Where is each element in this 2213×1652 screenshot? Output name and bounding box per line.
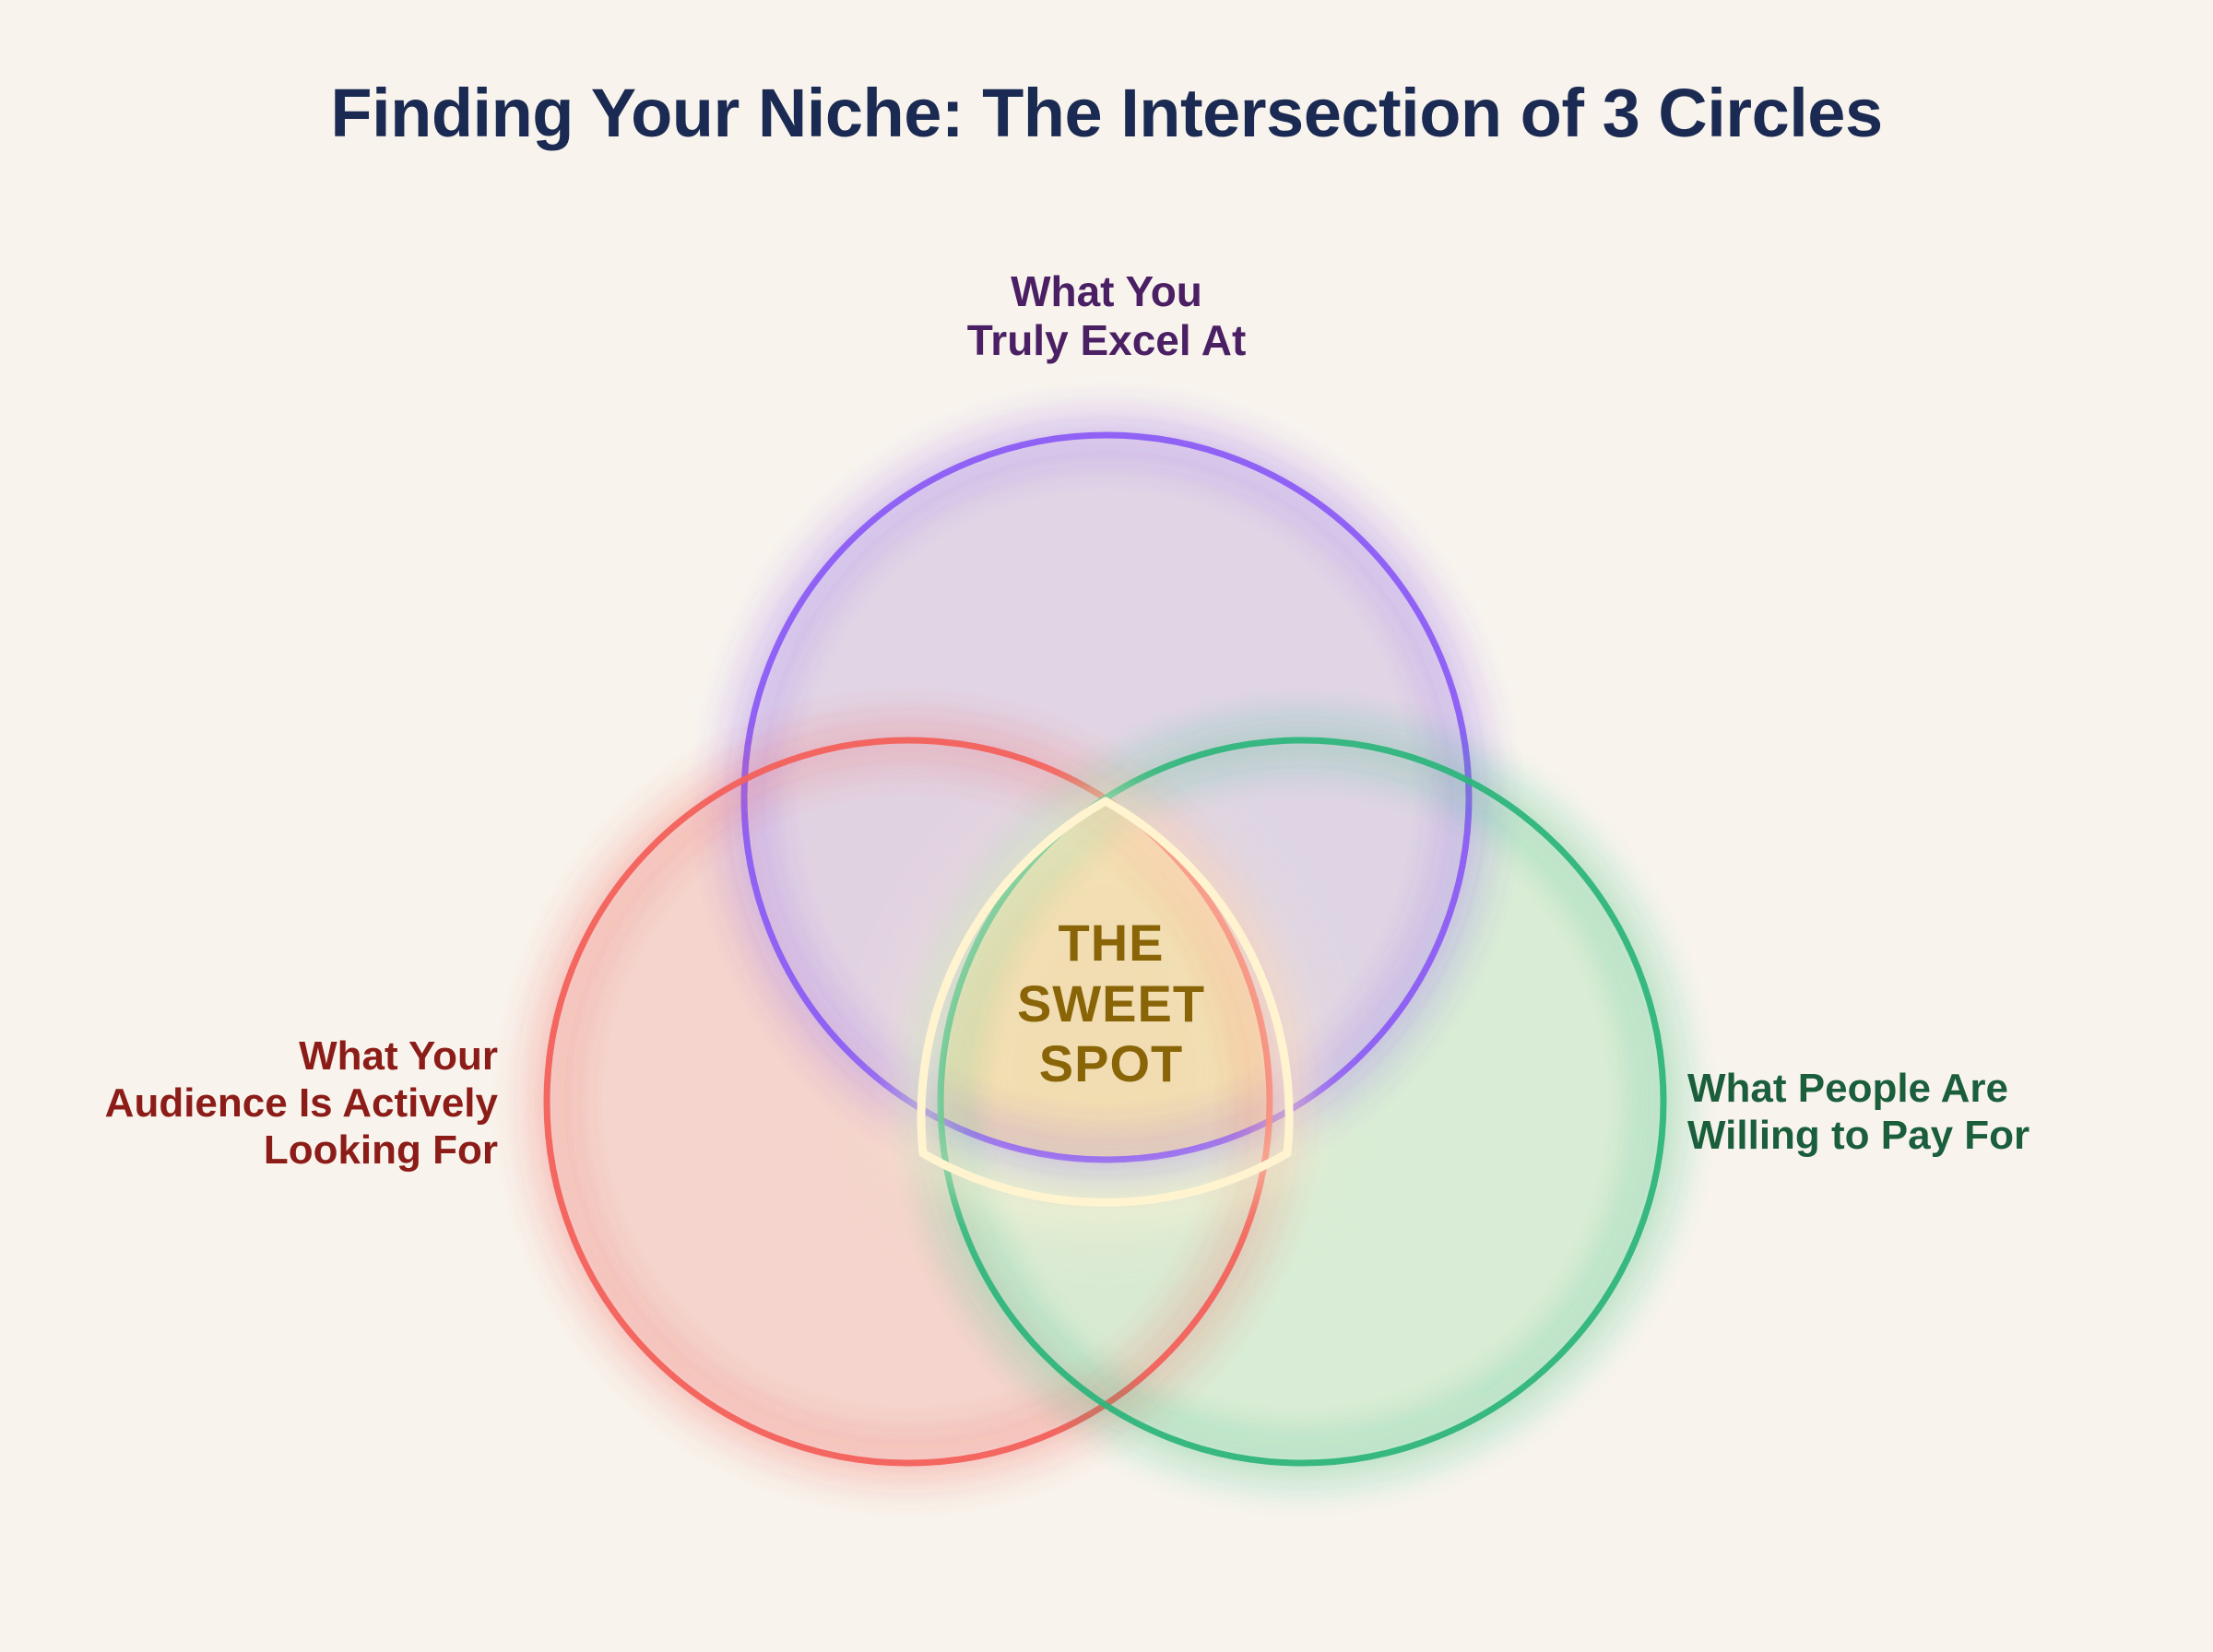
circle-label-excel: What You Truly Excel At <box>0 267 2213 366</box>
circle-label-audience: What Your Audience Is Actively Looking F… <box>9 1032 498 1174</box>
sweet-spot-label: THE SWEET SPOT <box>927 913 1296 1094</box>
venn-diagram <box>0 0 2213 1652</box>
diagram-canvas: Finding Your Niche: The Intersection of … <box>0 0 2213 1652</box>
circle-label-pay: What People Are Willing to Pay For <box>1687 1065 2204 1159</box>
